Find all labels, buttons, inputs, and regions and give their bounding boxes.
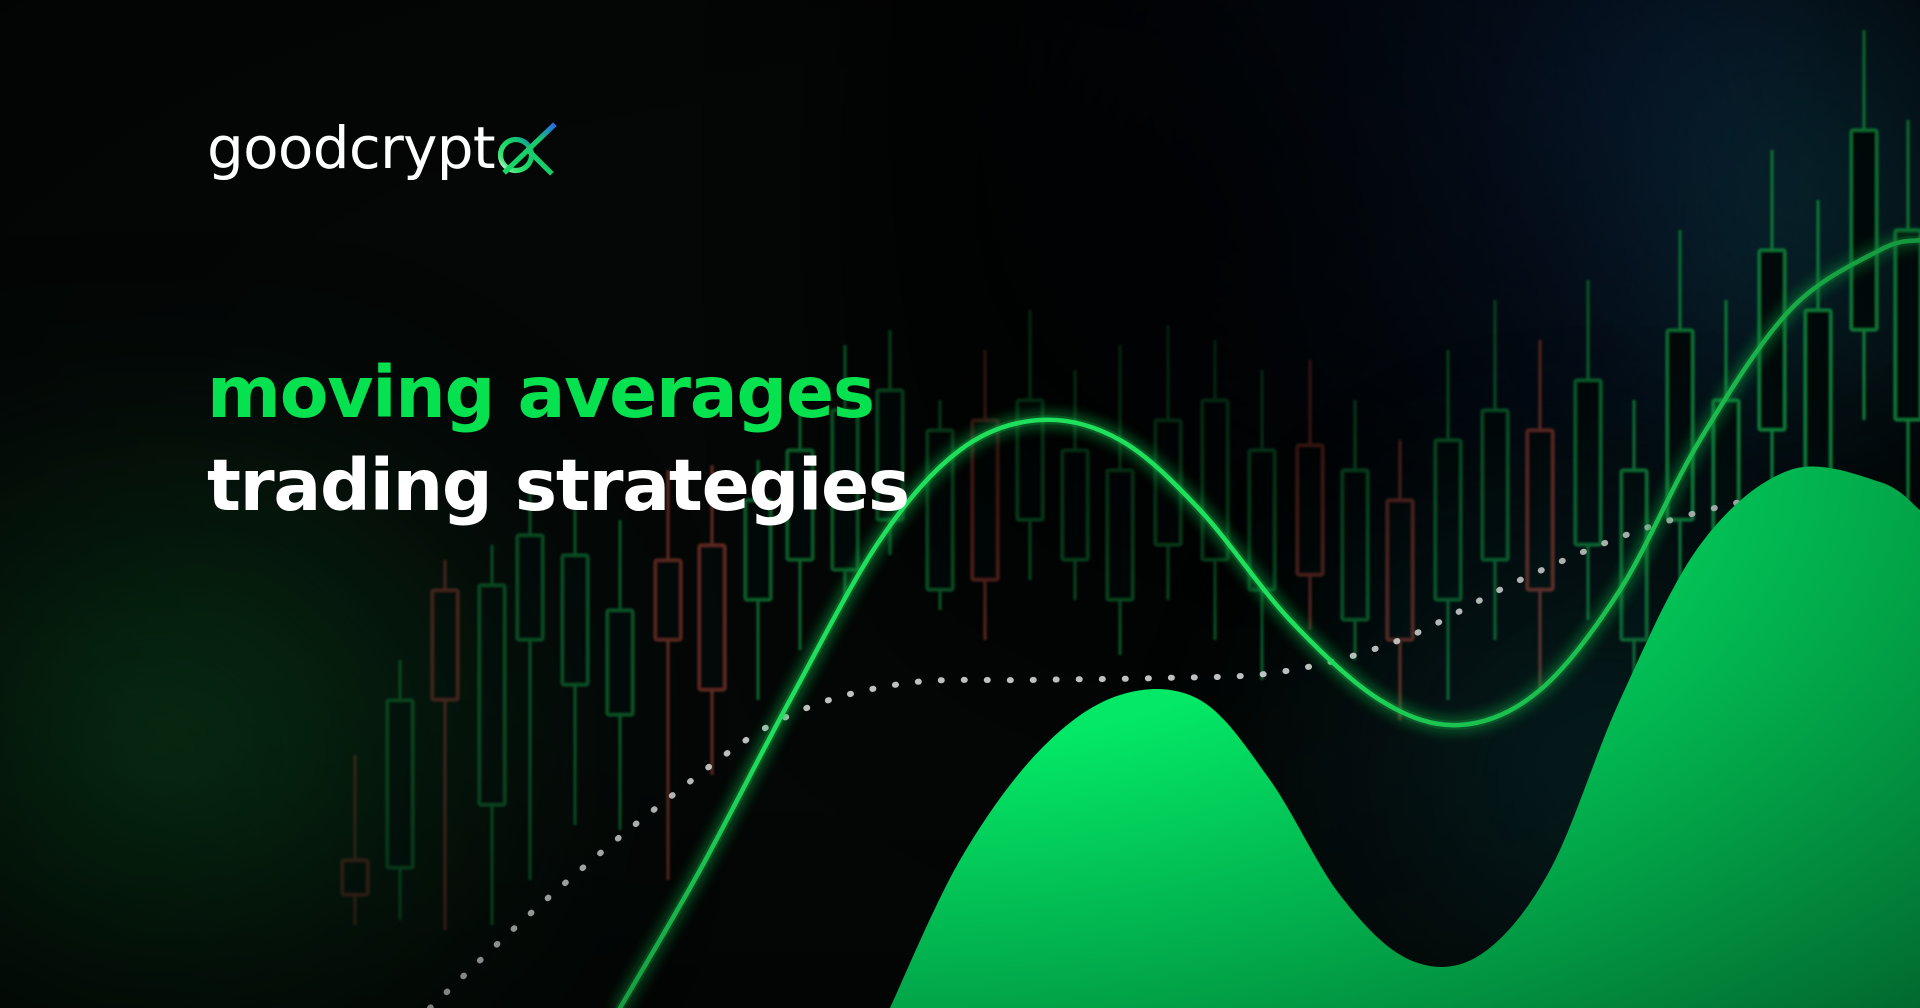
brand-logo[interactable]: goodcrypt (207, 115, 561, 180)
banner-canvas: goodcrypt moving (0, 0, 1920, 1008)
brand-wordmark: goodcrypt (207, 119, 495, 177)
page-title: moving averages trading strategies (207, 357, 909, 543)
alpha-mark-icon (493, 122, 561, 180)
headline-line-1: moving averages (207, 357, 909, 428)
headline-line-2: trading strategies (207, 450, 909, 521)
